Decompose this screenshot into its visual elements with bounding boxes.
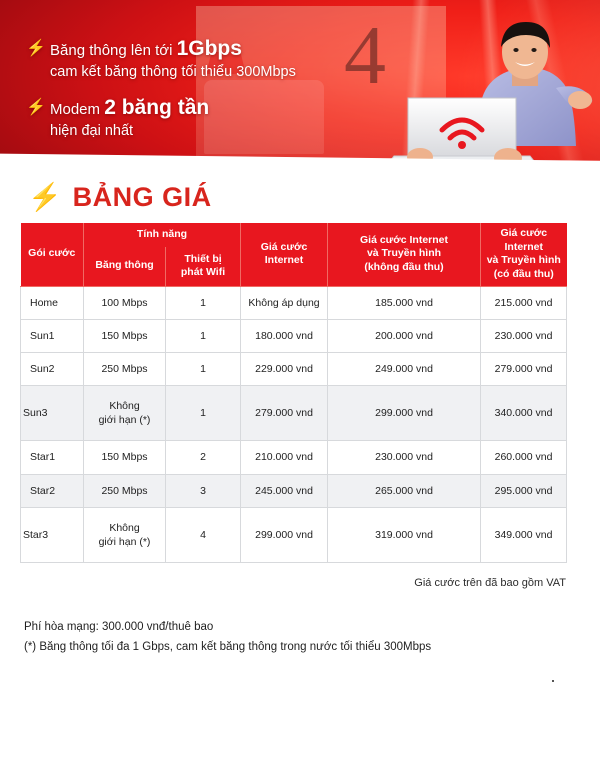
bandwidth-cell: 150 Mbps	[84, 319, 166, 352]
price-table-header: Gói cước Tính năng Giá cướcInternet Giá …	[21, 223, 567, 286]
th-internet-price: Giá cướcInternet	[241, 223, 328, 286]
promo-banner: 4	[0, 0, 600, 166]
bandwidth-cell: Khônggiới hạn (*)	[84, 507, 166, 562]
internet-price-cell: Không áp dụng	[241, 286, 328, 319]
tv-with-box-price-cell: 279.000 vnd	[481, 352, 567, 385]
man-holding-laptop-illustration	[330, 14, 600, 166]
table-row[interactable]: Star1150 Mbps2210.000 vnd230.000 vnd260.…	[21, 441, 567, 474]
table-row[interactable]: Star3Khônggiới hạn (*)4299.000 vnd319.00…	[21, 507, 567, 562]
banner-bullet-modem: ⚡ Modem 2 băng tần hiện đại nhất	[26, 95, 296, 140]
price-table-wrapper: Gói cước Tính năng Giá cướcInternet Giá …	[20, 223, 566, 563]
page-title-text: BẢNG GIÁ	[73, 182, 212, 213]
package-cell: Star1	[21, 441, 84, 474]
wifi-device-cell: 1	[166, 352, 241, 385]
bullet-1-line-1: Băng thông lên tới 1Gbps	[50, 36, 296, 63]
bullet-2-line-2: hiện đại nhất	[50, 122, 209, 141]
package-cell: Sun1	[21, 319, 84, 352]
bandwidth-cell: 250 Mbps	[84, 352, 166, 385]
th-internet-tv-with-box: Giá cước Internetvà Truyền hình(có đầu t…	[481, 223, 567, 286]
footer-notes: Phí hòa mạng: 300.000 vnđ/thuê bao (*) B…	[24, 617, 600, 657]
bullet-1-line-2: cam kết băng thông tối thiểu 300Mbps	[50, 63, 296, 82]
th-wifi-device: Thiết bịphát Wifi	[166, 247, 241, 286]
table-row[interactable]: Home100 Mbps1Không áp dụng185.000 vnd215…	[21, 286, 567, 319]
internet-price-cell: 299.000 vnd	[241, 507, 328, 562]
bandwidth-cell: 250 Mbps	[84, 474, 166, 507]
wifi-device-cell: 2	[166, 441, 241, 474]
internet-price-cell: 245.000 vnd	[241, 474, 328, 507]
wifi-device-cell: 1	[166, 319, 241, 352]
tv-with-box-price-cell: 295.000 vnd	[481, 474, 567, 507]
stray-dot-artifact	[552, 680, 554, 682]
tv-no-box-price-cell: 185.000 vnd	[328, 286, 481, 319]
th-bandwidth: Băng thông	[84, 247, 166, 286]
wifi-device-cell: 1	[166, 386, 241, 441]
internet-price-cell: 210.000 vnd	[241, 441, 328, 474]
price-table-body: Home100 Mbps1Không áp dụng185.000 vnd215…	[21, 286, 567, 563]
th-features-group: Tính năng	[84, 223, 241, 247]
tv-with-box-price-cell: 230.000 vnd	[481, 319, 567, 352]
price-table: Gói cước Tính năng Giá cướcInternet Giá …	[20, 223, 567, 563]
tv-no-box-price-cell: 230.000 vnd	[328, 441, 481, 474]
tv-with-box-price-cell: 340.000 vnd	[481, 386, 567, 441]
package-cell: Sun3	[21, 386, 84, 441]
tv-no-box-price-cell: 299.000 vnd	[328, 386, 481, 441]
table-row[interactable]: Sun3Khônggiới hạn (*)1279.000 vnd299.000…	[21, 386, 567, 441]
internet-price-cell: 229.000 vnd	[241, 352, 328, 385]
tv-with-box-price-cell: 260.000 vnd	[481, 441, 567, 474]
wifi-device-cell: 3	[166, 474, 241, 507]
th-internet-tv-no-box: Giá cước Internetvà Truyền hình(không đầ…	[328, 223, 481, 286]
footer-note-asterisk: (*) Băng thông tối đa 1 Gbps, cam kết bă…	[24, 637, 600, 657]
package-cell: Star2	[21, 474, 84, 507]
wifi-device-cell: 4	[166, 507, 241, 562]
bandwidth-cell: 100 Mbps	[84, 286, 166, 319]
tv-no-box-price-cell: 249.000 vnd	[328, 352, 481, 385]
internet-price-cell: 180.000 vnd	[241, 319, 328, 352]
table-row[interactable]: Sun1150 Mbps1180.000 vnd200.000 vnd230.0…	[21, 319, 567, 352]
internet-price-cell: 279.000 vnd	[241, 386, 328, 441]
th-package: Gói cước	[21, 223, 84, 286]
tv-no-box-price-cell: 319.000 vnd	[328, 507, 481, 562]
tv-with-box-price-cell: 215.000 vnd	[481, 286, 567, 319]
package-cell: Star3	[21, 507, 84, 562]
table-row[interactable]: Sun2250 Mbps1229.000 vnd249.000 vnd279.0…	[21, 352, 567, 385]
header-row-1: Gói cước Tính năng Giá cướcInternet Giá …	[21, 223, 567, 247]
footer-note-setup-fee: Phí hòa mạng: 300.000 vnđ/thuê bao	[24, 617, 600, 637]
banner-bullet-list: ⚡ Băng thông lên tới 1Gbps cam kết băng …	[26, 36, 296, 155]
package-cell: Home	[21, 286, 84, 319]
tv-no-box-price-cell: 200.000 vnd	[328, 319, 481, 352]
bandwidth-cell: Khônggiới hạn (*)	[84, 386, 166, 441]
lightning-bolt-icon: ⚡	[28, 184, 62, 211]
bandwidth-cell: 150 Mbps	[84, 441, 166, 474]
lightning-bolt-icon: ⚡	[26, 41, 40, 57]
tv-no-box-price-cell: 265.000 vnd	[328, 474, 481, 507]
package-cell: Sun2	[21, 352, 84, 385]
page-title: ⚡ BẢNG GIÁ	[28, 182, 600, 213]
banner-bullet-bandwidth: ⚡ Băng thông lên tới 1Gbps cam kết băng …	[26, 36, 296, 81]
tv-with-box-price-cell: 349.000 vnd	[481, 507, 567, 562]
table-row[interactable]: Star2250 Mbps3245.000 vnd265.000 vnd295.…	[21, 474, 567, 507]
vat-note: Giá cước trên đã bao gồm VAT	[0, 577, 566, 589]
wifi-device-cell: 1	[166, 286, 241, 319]
lightning-bolt-icon: ⚡	[26, 100, 40, 116]
bullet-2-line-1: Modem 2 băng tần	[50, 95, 209, 122]
